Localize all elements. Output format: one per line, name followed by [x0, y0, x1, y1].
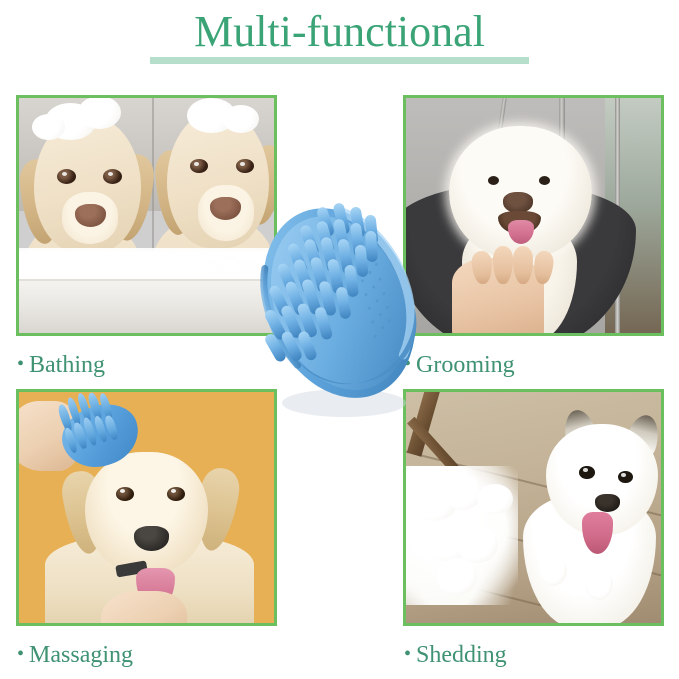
bichon-eye — [488, 176, 499, 185]
panel-shedding[interactable] — [403, 389, 664, 626]
label-shedding: •Shedding — [404, 640, 507, 669]
labrador-left-eye — [57, 169, 76, 184]
soap-suds — [32, 114, 65, 140]
product-image-silicone-brush — [248, 185, 433, 430]
page-title: Multi-functional — [188, 6, 491, 58]
golden-retriever-eye — [167, 487, 185, 501]
golden-retriever-head — [85, 452, 207, 572]
fur-clump — [457, 526, 498, 563]
soap-suds — [78, 96, 121, 129]
labrador-right-eye — [236, 159, 254, 173]
label-massaging: •Massaging — [17, 640, 133, 669]
label-bathing: •Bathing — [17, 350, 105, 379]
bathtub-edge — [16, 279, 277, 336]
grooming-scene — [406, 98, 661, 333]
label-shedding-text: Shedding — [416, 642, 507, 668]
spitz-paw — [585, 572, 613, 600]
bullet-icon: • — [17, 353, 24, 375]
fur-clump — [442, 475, 483, 510]
massaging-scene — [19, 392, 274, 623]
spitz-eye — [618, 471, 633, 484]
spitz-eye — [579, 466, 594, 479]
bichon-eye — [539, 176, 550, 185]
panel-grooming[interactable] — [403, 95, 664, 336]
labrador-right-eye — [190, 159, 208, 173]
label-massaging-text: Massaging — [29, 642, 133, 668]
panel-bathing[interactable] — [16, 95, 277, 336]
shedding-scene — [406, 392, 661, 623]
soap-suds — [223, 105, 259, 133]
bullet-icon: • — [404, 643, 411, 665]
bullet-icon: • — [17, 643, 24, 665]
title-underline — [150, 57, 529, 64]
golden-retriever-eye — [116, 487, 134, 501]
label-bathing-text: Bathing — [29, 352, 105, 378]
panel-massaging[interactable] — [16, 389, 277, 626]
labrador-left-eye — [103, 169, 122, 184]
title-block: Multi-functional — [0, 6, 679, 58]
bathing-scene — [19, 98, 274, 333]
